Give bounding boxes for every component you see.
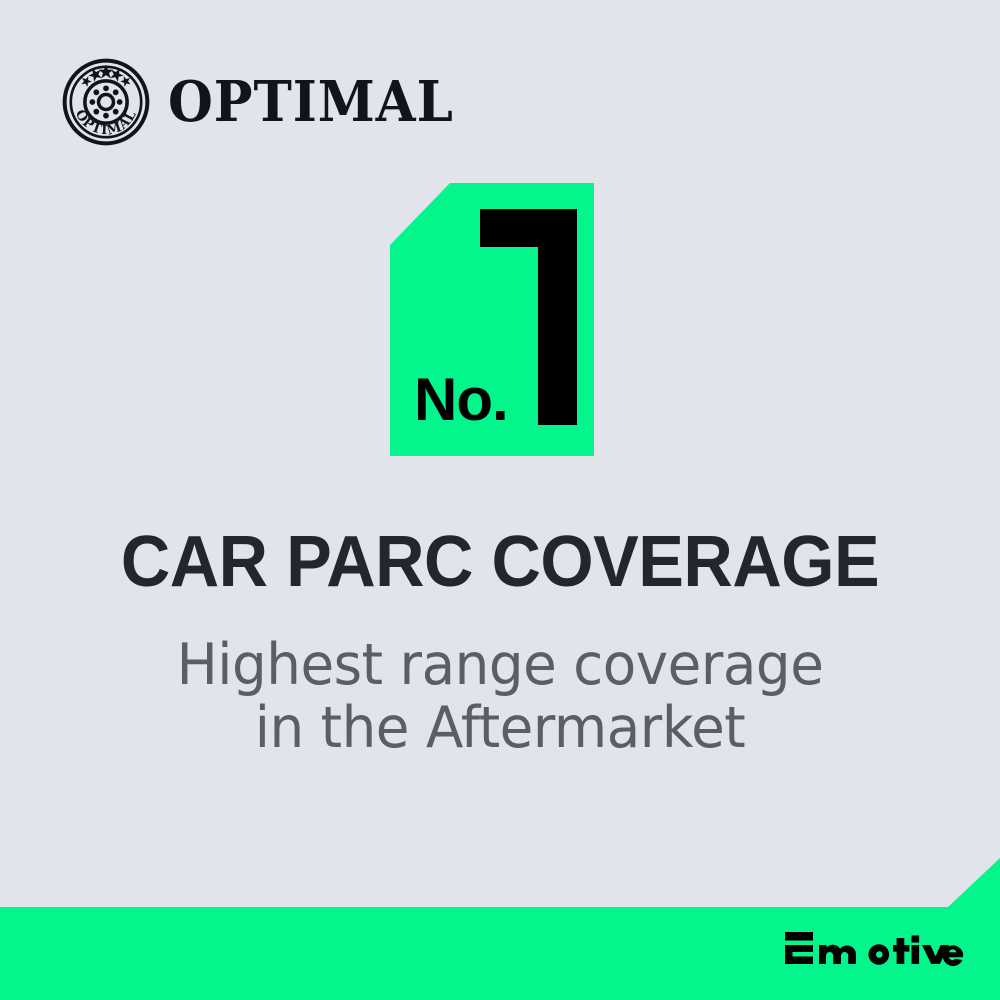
page-title: CAR PARC COVERAGE [25,526,975,598]
brand-logo: OPTIMAL OPTIMAL [62,58,479,146]
footer-band [0,858,1000,1000]
optimal-wheel-emblem-icon: OPTIMAL [62,58,150,146]
subtitle: Highest range coverage in the Aftermarke… [20,634,980,759]
brand-wordmark: OPTIMAL [168,74,454,130]
emotive-logotype-icon [783,932,965,972]
rank-badge: No. [390,183,594,456]
rank-number-glyph [480,209,577,425]
poster-canvas: OPTIMAL OPTIMAL No. [0,0,1000,1000]
subtitle-line-1: Highest range coverage [20,634,980,697]
subtitle-line-2: in the Aftermarket [20,697,980,760]
